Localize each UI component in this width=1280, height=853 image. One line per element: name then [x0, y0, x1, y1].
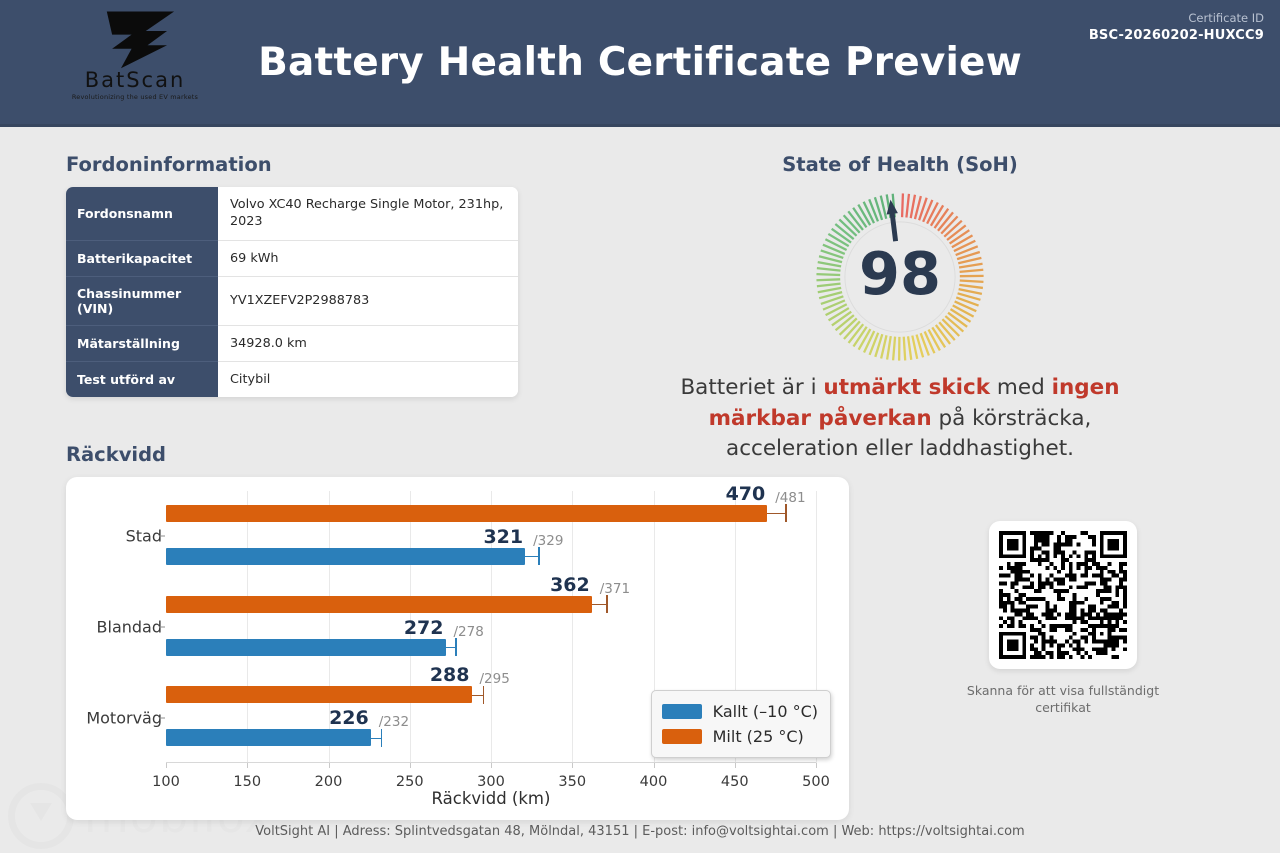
error-bar-line: [446, 647, 456, 648]
gauge-tick: [817, 268, 841, 271]
error-bar-cap: [606, 595, 608, 613]
bar-value-label: 362: [550, 574, 590, 596]
legend-item-cold: Kallt (–10 °C): [662, 699, 818, 724]
qr-caption: Skanna för att visa fullständigt certifi…: [963, 682, 1163, 717]
table-row: Batterikapacitet69 kWh: [66, 240, 518, 276]
table-row: Chassinummer (VIN)YV1XZEFV2P2988783: [66, 276, 518, 325]
gauge-tick: [816, 274, 840, 275]
range-bar: [166, 505, 767, 522]
error-bar-line: [592, 604, 607, 605]
batscan-logo: BatScan Revolutionizing the used EV mark…: [70, 8, 200, 101]
error-bar-cap: [538, 547, 540, 565]
bar-max-label: /278: [454, 624, 484, 640]
gauge-tick: [893, 337, 895, 361]
chart-legend: Kallt (–10 °C) Milt (25 °C): [651, 690, 831, 758]
x-tick: [816, 763, 817, 768]
y-tick: [159, 536, 165, 537]
vehicle-information-card: FordonsnamnVolvo XC40 Recharge Single Mo…: [66, 187, 518, 397]
range-title: Räckvidd: [66, 443, 856, 466]
bar-value-label: 226: [329, 707, 369, 729]
y-tick-label: Stad: [126, 527, 162, 546]
x-tick-label: 300: [477, 774, 505, 790]
gauge-tick: [911, 195, 915, 218]
qr-code[interactable]: [989, 521, 1137, 669]
gauge-needle: [885, 199, 901, 242]
gauge-tick: [953, 305, 974, 316]
gauge-tick: [960, 270, 984, 272]
y-tick-label: Blandad: [97, 618, 162, 637]
vehicle-row-value: Citybil: [218, 362, 518, 398]
x-tick-label: 500: [802, 774, 830, 790]
vehicle-row-value: Volvo XC40 Recharge Single Motor, 231hp,…: [218, 187, 518, 240]
y-tick: [159, 627, 165, 628]
gauge-tick: [959, 264, 982, 268]
soh-gauge: 98: [800, 182, 1000, 357]
error-bar-line: [472, 695, 483, 696]
state-of-health-section: State of Health (SoH) 98 Batteriet är i …: [600, 153, 1200, 465]
gauge-tick: [927, 202, 938, 223]
gauge-tick: [818, 262, 841, 266]
page-footer: VoltSight AI | Adress: Splintvedsgatan 4…: [0, 810, 1280, 853]
range-section: Räckvidd ›B BatScan Revolutionizing the …: [66, 443, 856, 820]
x-tick-label: 350: [558, 774, 586, 790]
x-axis-label: Räckvidd (km): [166, 789, 816, 808]
soh-plain: med: [990, 375, 1052, 400]
bar-value-label: 288: [430, 664, 470, 686]
vehicle-row-key: Chassinummer (VIN): [66, 276, 218, 325]
vehicle-row-key: Fordonsnamn: [66, 187, 218, 240]
page-header: BatScan Revolutionizing the used EV mark…: [0, 0, 1280, 127]
x-tick: [572, 763, 573, 768]
gauge-tick: [959, 285, 983, 288]
bar-value-label: 272: [404, 617, 444, 639]
gauge-tick: [887, 336, 891, 359]
range-bar: [166, 596, 592, 613]
soh-value: 98: [859, 239, 941, 308]
error-bar-line: [525, 556, 538, 557]
gauge-tick: [817, 284, 841, 287]
x-tick: [491, 763, 492, 768]
vehicle-information-title: Fordoninformation: [66, 153, 518, 176]
bar-value-label: 470: [726, 483, 766, 505]
bar-max-label: /295: [480, 671, 510, 687]
error-bar-cap: [455, 638, 457, 656]
x-tick-label: 450: [721, 774, 749, 790]
logo-wordmark: BatScan: [70, 68, 200, 92]
bar-max-label: /371: [600, 581, 630, 597]
batscan-logo-icon: [82, 8, 188, 70]
x-tick-label: 100: [152, 774, 180, 790]
x-tick: [329, 763, 330, 768]
error-bar-cap: [785, 504, 787, 522]
vehicle-row-key: Mätarställning: [66, 325, 218, 361]
gauge-tick: [826, 304, 847, 315]
soh-plain: Batteriet är i: [680, 375, 823, 400]
gauge-tick: [906, 194, 909, 218]
bar-max-label: /481: [775, 490, 805, 506]
range-bar: [166, 729, 371, 746]
gauge-tick: [952, 235, 973, 247]
x-tick-label: 200: [315, 774, 343, 790]
error-bar-line: [767, 513, 785, 514]
qr-section: Skanna för att visa fullständigt certifi…: [963, 521, 1163, 717]
gauge-tick: [960, 281, 984, 282]
gauge-tick: [959, 289, 982, 294]
gauge-tick: [929, 330, 940, 351]
soh-emphasis: utmärkt skick: [823, 375, 990, 400]
vehicle-row-value: 34928.0 km: [218, 325, 518, 361]
state-of-health-title: State of Health (SoH): [600, 153, 1200, 176]
gauge-tick: [858, 205, 870, 226]
range-bar: [166, 639, 446, 656]
logo-tagline: Revolutionizing the used EV markets: [70, 93, 200, 101]
bar-max-label: /232: [379, 714, 409, 730]
certificate-id-label: Certificate ID: [1089, 10, 1264, 27]
certificate-id-value: BSC-20260202-HUXCC9: [1089, 27, 1264, 46]
vehicle-information-section: Fordoninformation FordonsnamnVolvo XC40 …: [66, 153, 518, 397]
legend-item-mild: Milt (25 °C): [662, 724, 818, 749]
gauge-tick: [816, 279, 840, 280]
qr-code-image: [999, 531, 1127, 659]
x-tick: [247, 763, 248, 768]
table-row: Mätarställning34928.0 km: [66, 325, 518, 361]
certificate-id-block: Certificate ID BSC-20260202-HUXCC9: [1089, 10, 1264, 46]
vehicle-row-value: 69 kWh: [218, 240, 518, 276]
x-tick: [410, 763, 411, 768]
gridline: [247, 491, 248, 763]
soh-gauge-dial: 98: [800, 182, 1000, 372]
bar-value-label: 321: [483, 526, 523, 548]
y-tick: [159, 717, 165, 718]
x-tick-label: 250: [396, 774, 424, 790]
vehicle-row-key: Test utförd av: [66, 362, 218, 398]
legend-swatch-cold: [662, 704, 702, 719]
range-chart-card: ›B BatScan Revolutionizing the used EV m…: [66, 477, 849, 820]
vehicle-information-table: FordonsnamnVolvo XC40 Recharge Single Mo…: [66, 187, 518, 397]
certificate-page: mobilox BatScan Revolutionizing the used…: [0, 0, 1280, 853]
x-tick-label: 400: [640, 774, 668, 790]
x-axis: [166, 762, 816, 763]
gauge-tick: [902, 193, 903, 217]
gauge-tick: [904, 337, 905, 361]
error-bar-cap: [381, 729, 383, 747]
gauge-tick: [912, 336, 917, 359]
x-tick: [735, 763, 736, 768]
gridline: [572, 491, 573, 763]
x-tick: [166, 763, 167, 768]
vehicle-row-key: Batterikapacitet: [66, 240, 218, 276]
legend-swatch-mild: [662, 729, 702, 744]
range-bar: [166, 686, 472, 703]
vehicle-row-value: YV1XZEFV2P2988783: [218, 276, 518, 325]
error-bar-line: [371, 738, 381, 739]
legend-label-mild: Milt (25 °C): [713, 727, 804, 746]
legend-label-cold: Kallt (–10 °C): [713, 702, 818, 721]
error-bar-cap: [483, 686, 485, 704]
table-row: Test utförd avCitybil: [66, 362, 518, 398]
gauge-tick: [818, 288, 841, 292]
y-tick-label: Motorväg: [86, 708, 162, 727]
bar-max-label: /329: [533, 533, 563, 549]
table-row: FordonsnamnVolvo XC40 Recharge Single Mo…: [66, 187, 518, 240]
range-bar: [166, 548, 525, 565]
x-tick: [654, 763, 655, 768]
gauge-tick: [859, 329, 871, 350]
x-tick-label: 150: [233, 774, 261, 790]
gauge-tick: [908, 336, 911, 360]
